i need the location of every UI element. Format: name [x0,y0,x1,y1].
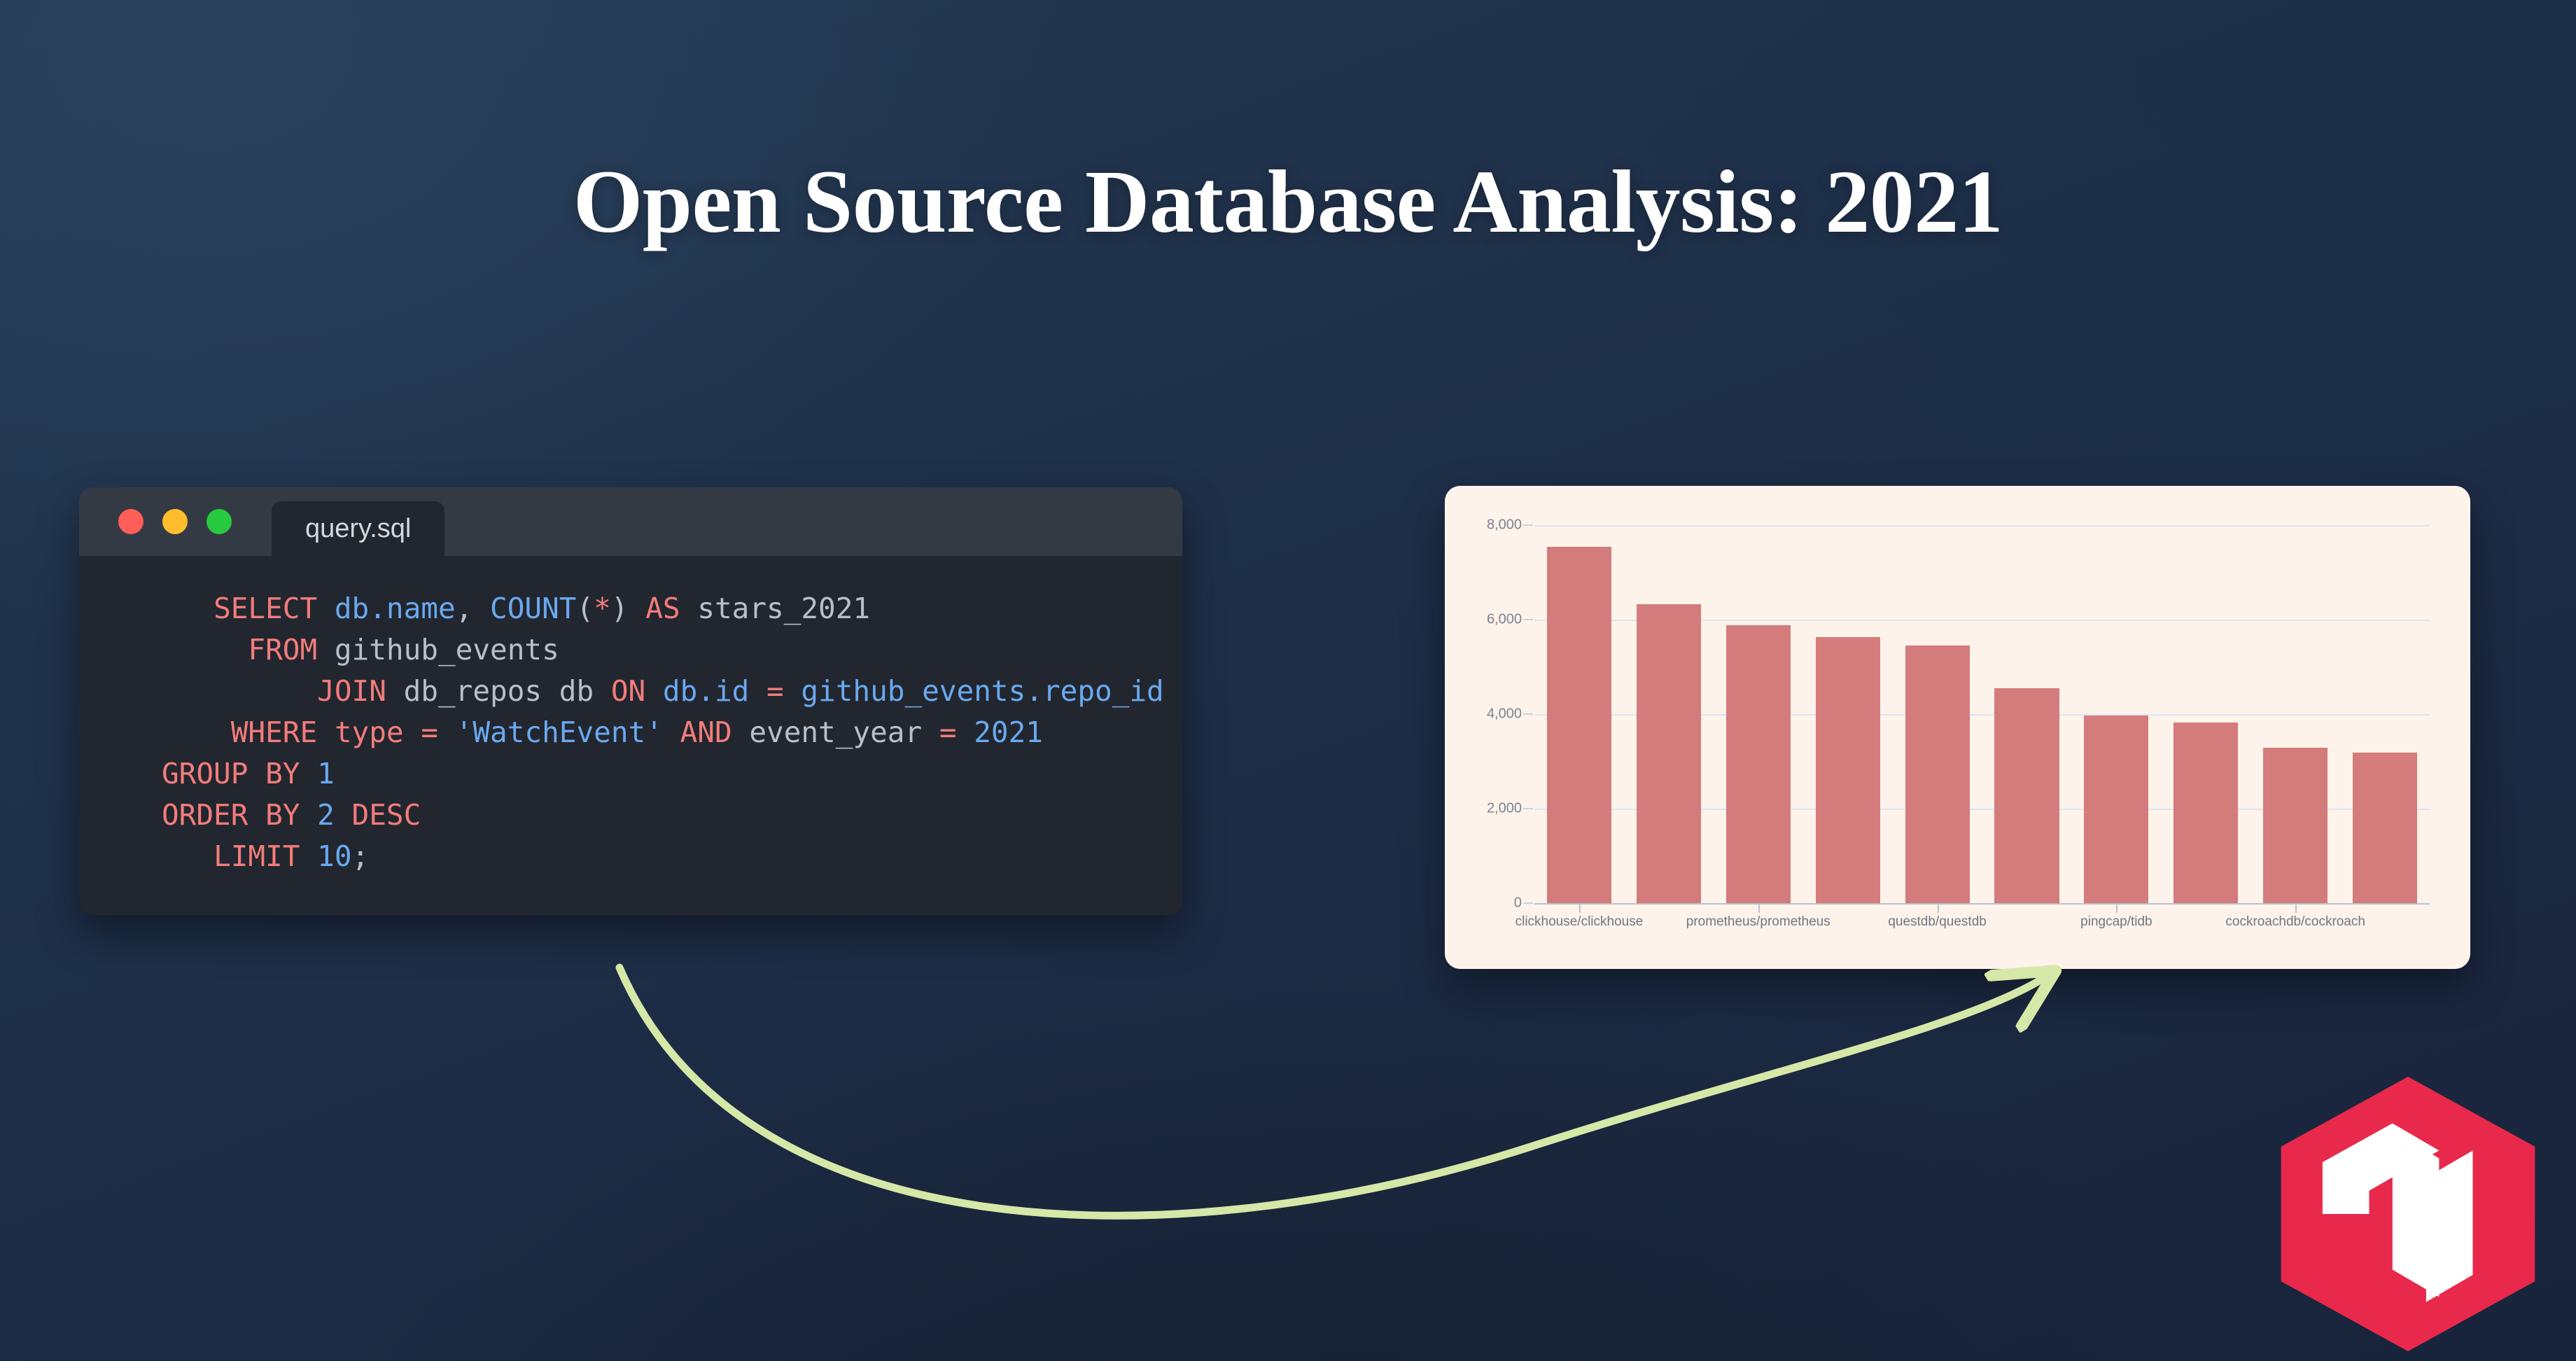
sql-token: 2 [317,798,335,832]
chart-y-tick-mark [1523,524,1533,526]
chart-x-tick: pingcap/tidb [2071,905,2161,926]
chart-y-tick-mark [1523,808,1533,809]
chart-bar[interactable] [1905,645,1970,903]
sql-token: 'WatchEvent' [456,716,663,749]
chart-bar-slot [1624,526,1714,903]
sql-token [784,674,801,708]
traffic-light-group [118,509,232,534]
sql-token: 2021 [974,716,1043,749]
sql-token [335,798,352,832]
sql-token: WHERE [231,716,317,749]
sql-token: 1 [317,757,335,790]
sql-line: LIMIT 10; [162,836,1182,877]
chart-x-tick-mark [1579,905,1581,913]
chart-bar[interactable] [1637,604,1701,903]
sql-token: type [335,716,404,749]
sql-token: ON [611,674,645,708]
slide-canvas: Open Source Database Analysis: 2021 quer… [0,0,2576,1361]
chart-bar-slot [1893,526,1982,903]
sql-token: FROM [248,633,317,666]
sql-token: GROUP BY [162,757,300,790]
sql-token: db.id [663,674,749,708]
sql-token [645,674,663,708]
chart-bar[interactable] [1547,547,1611,903]
chart-card: 02,0004,0006,0008,000 clickhouse/clickho… [1445,486,2470,969]
sql-token [317,716,335,749]
sql-token: LIMIT [213,839,300,873]
tab-query-sql[interactable]: query.sql [272,501,444,556]
chart-bar[interactable] [1994,688,2059,903]
sql-line: SELECT db.name, COUNT(*) AS stars_2021 [162,588,1182,629]
sql-token: event_year [732,716,939,749]
sql-token [300,839,317,873]
chart-x-tick [2340,905,2430,926]
sql-line: WHERE type = 'WatchEvent' AND event_year… [162,712,1182,753]
chart-bar[interactable] [1726,625,1791,903]
chart-bar[interactable] [2173,723,2238,903]
chart-bar[interactable] [1816,637,1880,903]
sql-token: ORDER BY [162,798,300,832]
sql-token: = [421,716,438,749]
chart-bar-slot [2161,526,2250,903]
sql-token [749,674,766,708]
sql-token [162,633,248,666]
chart-y-tick-label: 6,000 [1487,612,1522,628]
chart-bar-slot [2250,526,2340,903]
chart-bar-slot [2340,526,2430,903]
close-window-icon[interactable] [118,509,143,534]
chart-x-tick-mark [1758,905,1760,913]
chart-y-tick-mark [1523,902,1533,904]
sql-token: * [594,592,611,625]
sql-token: db_repos db [386,674,611,708]
sql-token: , [456,592,490,625]
code-editor-body[interactable]: SELECT db.name, COUNT(*) AS stars_2021 F… [79,556,1182,915]
chart-x-tick: cockroachdb/cockroach [2250,905,2340,926]
bar-chart: 02,0004,0006,0008,000 clickhouse/clickho… [1445,486,2470,969]
tab-query-sql-label: query.sql [305,514,411,544]
chart-y-tick-label: 2,000 [1487,801,1522,817]
sql-token: COUNT [490,592,576,625]
sql-token [957,716,974,749]
chart-bars [1534,526,2430,903]
chart-bar[interactable] [2263,748,2327,903]
sql-token: github_events.repo_id [801,674,1163,708]
sql-token: stars_2021 [680,592,871,625]
sql-token: github_events [317,633,559,666]
chart-x-tick-label: pingcap/tidb [2080,914,2152,930]
sql-line: JOIN db_repos db ON db.id = github_event… [162,671,1182,712]
chart-y-tick-mark [1523,619,1533,620]
page-title: Open Source Database Analysis: 2021 [0,153,2576,251]
sql-token: 10 [317,839,351,873]
sql-token: AND [680,716,732,749]
chart-x-tick: clickhouse/clickhouse [1534,905,1624,926]
sql-token: SELECT [213,592,317,625]
sql-token [162,839,213,873]
code-window: query.sql SELECT db.name, COUNT(*) AS st… [79,487,1182,915]
sql-token [404,716,421,749]
chart-plot-area: 02,0004,0006,0008,000 [1534,526,2430,905]
sql-token: JOIN [317,674,386,708]
chart-y-tick-label: 8,000 [1487,517,1522,533]
chart-x-axis-ticks: clickhouse/clickhouseprometheus/promethe… [1534,905,2430,926]
sql-token: db.name [335,592,456,625]
chart-bar-slot [1803,526,1893,903]
tidb-logo [2278,1074,2537,1354]
sql-line: GROUP BY 1 [162,753,1182,795]
sql-token: = [766,674,784,708]
sql-token [162,674,317,708]
chart-x-tick-mark [2295,905,2297,913]
chart-bar-slot [1534,526,1624,903]
chart-y-tick-mark [1523,713,1533,715]
chart-x-tick-mark [1938,905,1939,913]
sql-token: DESC [352,798,421,832]
sql-token: ( [576,592,594,625]
code-window-titlebar: query.sql [79,487,1182,556]
chart-bar-slot [2071,526,2161,903]
chart-y-tick-label: 0 [1514,895,1522,912]
chart-x-tick: questdb/questdb [1893,905,1982,926]
sql-line: ORDER BY 2 DESC [162,795,1182,836]
chart-bar-slot [1982,526,2072,903]
sql-token: ) [611,592,645,625]
sql-token [162,716,231,749]
chart-bar[interactable] [2353,753,2417,903]
sql-token [663,716,680,749]
sql-token: = [939,716,957,749]
maximize-window-icon[interactable] [206,509,232,534]
sql-code-block: SELECT db.name, COUNT(*) AS stars_2021 F… [79,588,1182,877]
chart-x-tick [1803,905,1893,926]
sql-token [162,592,213,625]
chart-x-tick-label: questdb/questdb [1888,914,1987,930]
sql-line: FROM github_events [162,629,1182,671]
sql-token [300,798,317,832]
sql-token: ; [352,839,370,873]
chart-bar[interactable] [2084,716,2148,903]
sql-token: AS [645,592,680,625]
chart-bar-slot [1714,526,1803,903]
chart-y-tick-label: 4,000 [1487,706,1522,723]
sql-token [438,716,456,749]
sql-token [300,757,317,790]
chart-x-tick [1982,905,2072,926]
minimize-window-icon[interactable] [162,509,188,534]
chart-x-tick-mark [2116,905,2117,913]
sql-token [317,592,335,625]
chart-x-tick: prometheus/prometheus [1714,905,1803,926]
